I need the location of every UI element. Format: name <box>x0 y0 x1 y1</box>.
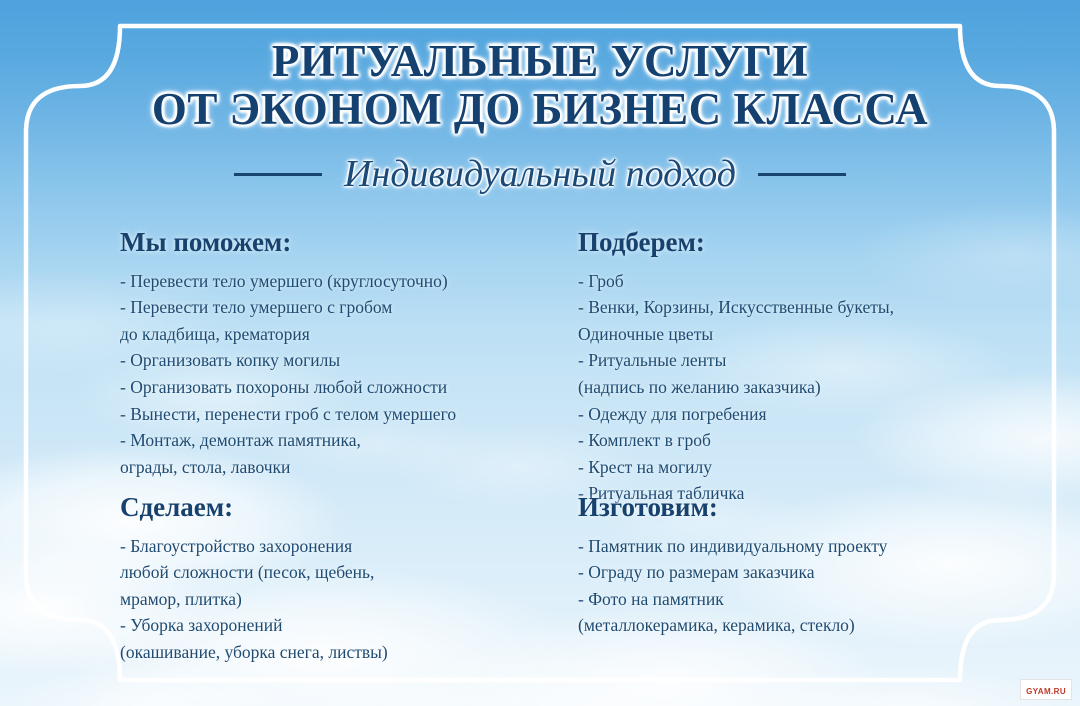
list-item: - Венки, Корзины, Искусственные букеты, <box>578 294 998 321</box>
services-grid: Мы поможем: - Перевести тело умершего (к… <box>0 228 1080 668</box>
list-item: - Уборка захоронений <box>120 612 570 639</box>
list-item: - Крест на могилу <box>578 454 998 481</box>
rule-left <box>234 173 322 176</box>
section-make: Изготовим: - Памятник по индивидуальному… <box>578 493 998 639</box>
list-item: - Ограду по размерам заказчика <box>578 559 998 586</box>
list-item: - Перевести тело умершего с гробом <box>120 294 570 321</box>
poster-title: РИТУАЛЬНЫЕ УСЛУГИ ОТ ЭКОНОМ ДО БИЗНЕС КЛ… <box>0 38 1080 133</box>
list-item: - Ритуальные ленты <box>578 347 998 374</box>
section-help-list: - Перевести тело умершего (круглосуточно… <box>120 268 570 481</box>
list-item: - Монтаж, демонтаж памятника, <box>120 427 570 454</box>
list-item: (окашивание, уборка снега, листвы) <box>120 639 570 666</box>
section-do: Сделаем: - Благоустройство захоронения л… <box>120 493 570 666</box>
title-line-1: РИТУАЛЬНЫЕ УСЛУГИ <box>0 38 1080 86</box>
list-item: - Одежду для погребения <box>578 401 998 428</box>
list-item: Одиночные цветы <box>578 321 998 348</box>
list-item: - Гроб <box>578 268 998 295</box>
list-item: - Благоустройство захоронения <box>120 533 570 560</box>
poster-subtitle: Индивидуальный подход <box>344 152 736 196</box>
list-item: до кладбища, крематория <box>120 321 570 348</box>
list-item: (металлокерамика, керамика, стекло) <box>578 612 998 639</box>
rule-right <box>758 173 846 176</box>
list-item: любой сложности (песок, щебень, <box>120 559 570 586</box>
list-item: (надпись по желанию заказчика) <box>578 374 998 401</box>
section-help-heading: Мы поможем: <box>120 228 570 258</box>
watermark-label: GYAM.RU <box>1026 687 1066 696</box>
section-select: Подберем: - Гроб - Венки, Корзины, Искус… <box>578 228 998 507</box>
title-line-2: ОТ ЭКОНОМ ДО БИЗНЕС КЛАССА <box>0 86 1080 134</box>
list-item: ограды, стола, лавочки <box>120 454 570 481</box>
list-item: - Организовать похороны любой сложности <box>120 374 570 401</box>
list-item: - Вынести, перенести гроб с телом умерше… <box>120 401 570 428</box>
list-item: - Комплект в гроб <box>578 427 998 454</box>
section-select-list: - Гроб - Венки, Корзины, Искусственные б… <box>578 268 998 507</box>
list-item: - Перевести тело умершего (круглосуточно… <box>120 268 570 295</box>
list-item: - Памятник по индивидуальному проекту <box>578 533 998 560</box>
list-item: - Фото на памятник <box>578 586 998 613</box>
section-select-heading: Подберем: <box>578 228 998 258</box>
section-make-heading: Изготовим: <box>578 493 998 523</box>
section-help: Мы поможем: - Перевести тело умершего (к… <box>120 228 570 480</box>
section-do-list: - Благоустройство захоронения любой слож… <box>120 533 570 666</box>
poster-canvas: РИТУАЛЬНЫЕ УСЛУГИ ОТ ЭКОНОМ ДО БИЗНЕС КЛ… <box>0 0 1080 706</box>
subtitle-row: Индивидуальный подход <box>0 152 1080 196</box>
list-item: мрамор, плитка) <box>120 586 570 613</box>
section-make-list: - Памятник по индивидуальному проекту - … <box>578 533 998 639</box>
watermark-badge: GYAM.RU <box>1020 679 1072 700</box>
list-item: - Организовать копку могилы <box>120 347 570 374</box>
section-do-heading: Сделаем: <box>120 493 570 523</box>
